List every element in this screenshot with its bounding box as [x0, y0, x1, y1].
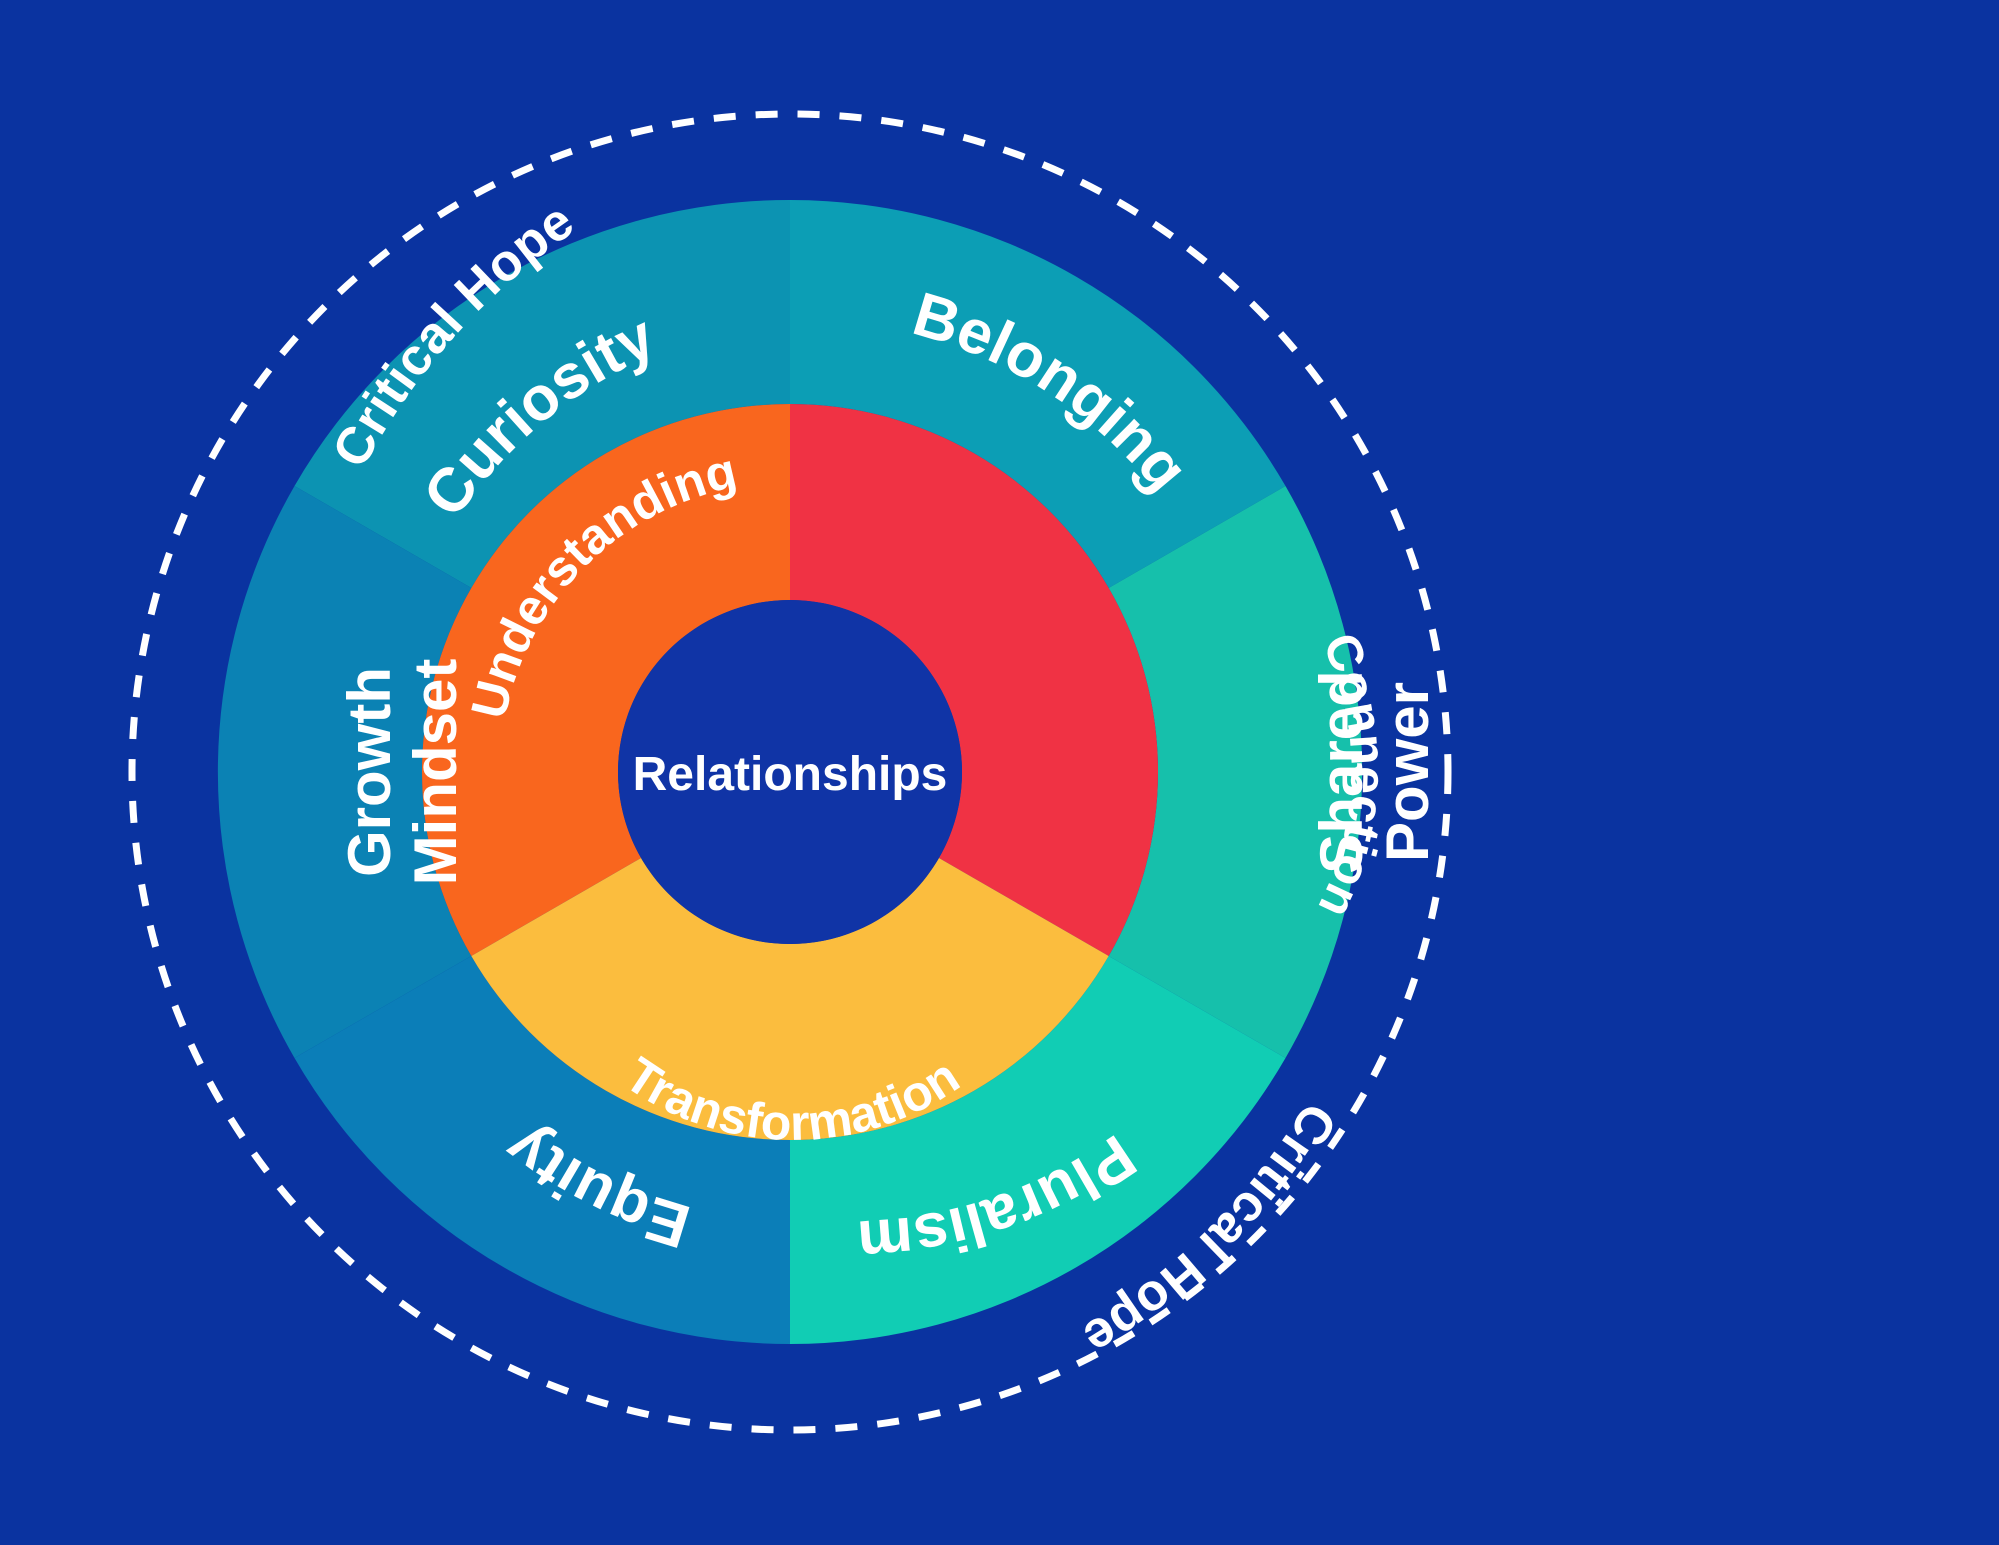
growth-mindset-line1: Growth — [336, 667, 403, 877]
growth-mindset-line2: Mindset — [402, 659, 469, 886]
outer-label-growth-mindset: Growth Mindset — [336, 659, 469, 886]
center-label-relationships: Relationships — [633, 748, 948, 801]
diagram-canvas: Critical Hope Critical Hope Curiosity Be… — [0, 0, 1999, 1545]
concentric-wheel-diagram: Critical Hope Critical Hope Curiosity Be… — [0, 0, 1999, 1545]
